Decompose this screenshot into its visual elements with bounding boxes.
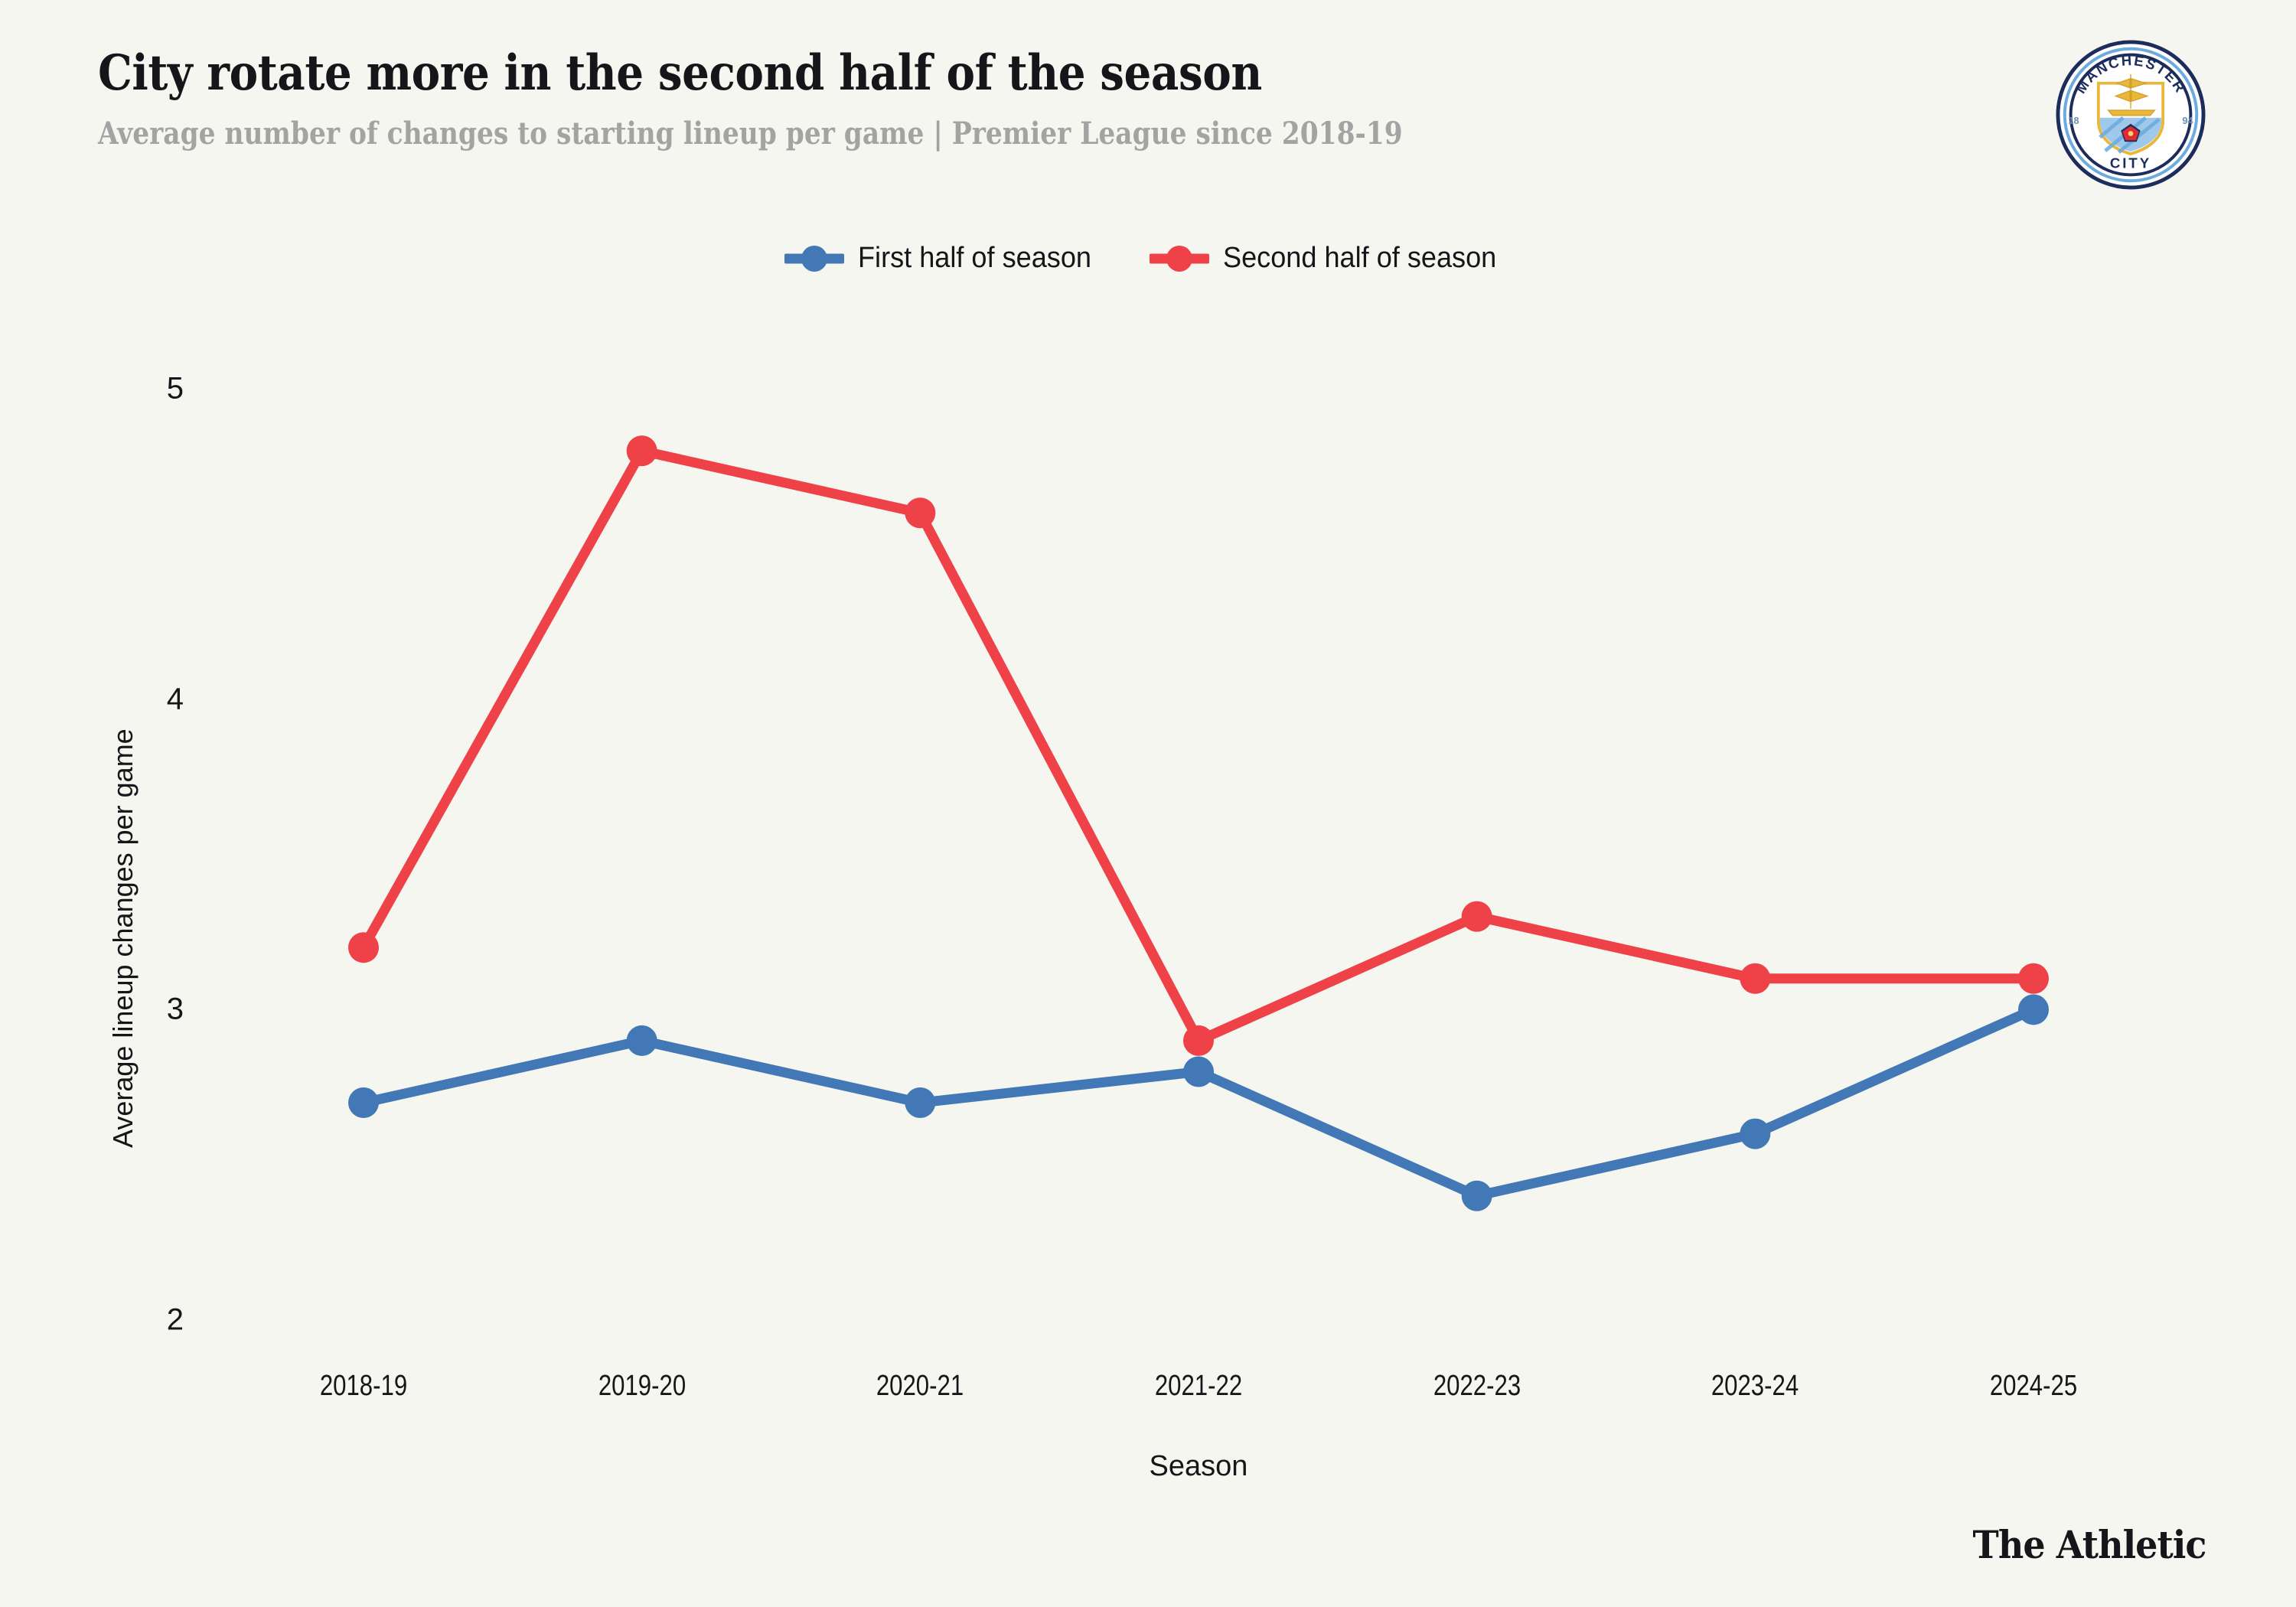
- data-point[interactable]: [348, 1087, 379, 1118]
- data-point[interactable]: [905, 497, 935, 528]
- data-point[interactable]: [627, 435, 657, 466]
- data-point[interactable]: [905, 1087, 935, 1118]
- x-tick-label: 2023-24: [1711, 1370, 1799, 1403]
- data-point[interactable]: [1462, 1181, 1492, 1211]
- y-tick-label: 3: [122, 993, 184, 1027]
- data-point[interactable]: [1183, 1056, 1214, 1087]
- y-tick-label: 2: [122, 1303, 184, 1338]
- data-point[interactable]: [2018, 994, 2049, 1025]
- data-point[interactable]: [1740, 1119, 1770, 1149]
- plot-area: Average lineup changes per game Season 2…: [0, 0, 2296, 1607]
- x-tick-label: 2022-23: [1433, 1370, 1520, 1403]
- data-point[interactable]: [1740, 963, 1770, 994]
- chart-page: City rotate more in the second half of t…: [0, 0, 2296, 1607]
- data-point[interactable]: [1462, 901, 1492, 932]
- series-line-second-half: [364, 451, 2033, 1041]
- data-point[interactable]: [1183, 1025, 1214, 1056]
- x-tick-label: 2019-20: [598, 1370, 685, 1403]
- x-axis-title: Season: [892, 1450, 1505, 1483]
- y-axis-title: Average lineup changes per game: [107, 729, 139, 1148]
- x-tick-label: 2020-21: [876, 1370, 964, 1403]
- brand-logo: The Athletic: [1972, 1522, 2206, 1567]
- line-chart-svg: [0, 0, 2296, 1607]
- x-tick-label: 2024-25: [1990, 1370, 2077, 1403]
- data-point[interactable]: [348, 932, 379, 963]
- x-tick-label: 2021-22: [1155, 1370, 1242, 1403]
- data-point[interactable]: [2018, 963, 2049, 994]
- data-point[interactable]: [627, 1025, 657, 1056]
- y-tick-label: 4: [122, 682, 184, 716]
- y-tick-label: 5: [122, 372, 184, 406]
- x-tick-label: 2018-19: [320, 1370, 407, 1403]
